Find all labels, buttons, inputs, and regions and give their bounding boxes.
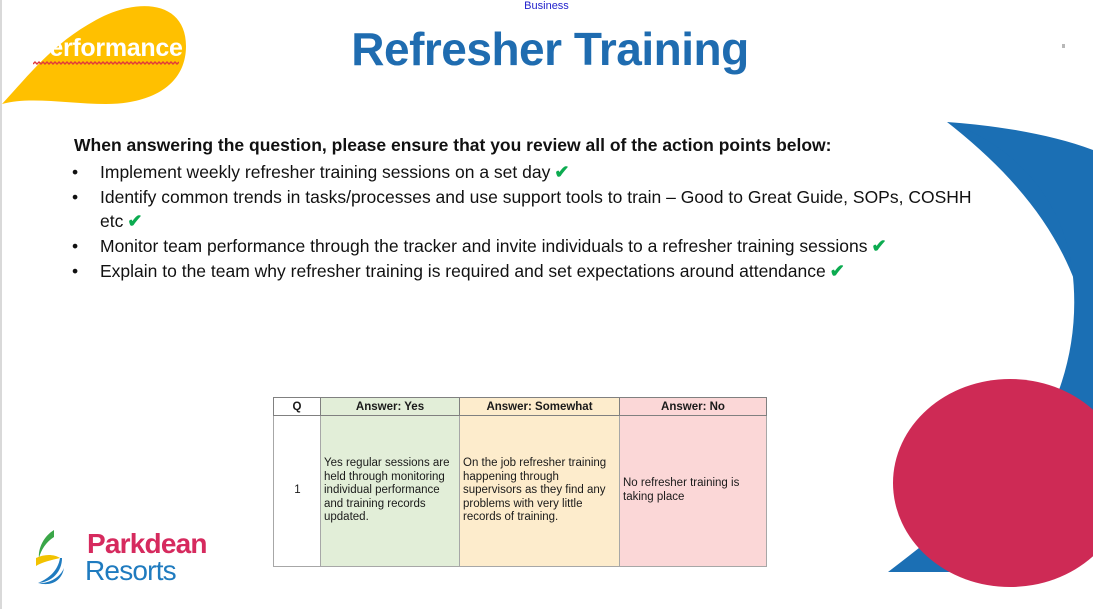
list-item-text: Identify common trends in tasks/processe… bbox=[100, 187, 972, 231]
stray-mark bbox=[1062, 44, 1065, 48]
check-icon: ✔ bbox=[550, 162, 569, 182]
pink-circle-shape bbox=[893, 379, 1093, 587]
check-icon: ✔ bbox=[867, 236, 886, 256]
cell-answer-somewhat: On the job refresher training happening … bbox=[460, 416, 620, 567]
bullet-marker: • bbox=[72, 185, 78, 209]
action-points-list: • Implement weekly refresher training se… bbox=[70, 160, 1000, 284]
list-item-text: Implement weekly refresher training sess… bbox=[100, 162, 550, 182]
column-header-somewhat: Answer: Somewhat bbox=[460, 398, 620, 416]
bullet-marker: • bbox=[72, 234, 78, 258]
logo-leaf-mark bbox=[32, 528, 87, 588]
list-item-text: Explain to the team why refresher traini… bbox=[100, 261, 826, 281]
lead-instruction: When answering the question, please ensu… bbox=[74, 135, 954, 156]
list-item: • Monitor team performance through the t… bbox=[70, 234, 1000, 258]
slide-canvas: Performance Business Refresher Training … bbox=[0, 0, 1093, 609]
slide-left-border bbox=[0, 0, 2, 609]
list-item: • Explain to the team why refresher trai… bbox=[70, 259, 1000, 283]
logo-word-resorts: Resorts bbox=[85, 555, 176, 587]
bullet-marker: • bbox=[72, 160, 78, 184]
parkdean-resorts-logo: Parkdean Resorts bbox=[32, 528, 182, 590]
table-header-row: Q Answer: Yes Answer: Somewhat Answer: N… bbox=[274, 398, 767, 416]
check-icon: ✔ bbox=[826, 261, 845, 281]
page-title: Refresher Training bbox=[190, 22, 910, 76]
table-row: 1 Yes regular sessions are held through … bbox=[274, 416, 767, 567]
column-header-yes: Answer: Yes bbox=[321, 398, 460, 416]
column-header-no: Answer: No bbox=[620, 398, 767, 416]
kicker-text: Business bbox=[0, 0, 1093, 12]
spellcheck-squiggle-underline bbox=[33, 61, 179, 65]
check-icon: ✔ bbox=[123, 211, 142, 231]
blue-tail-shape bbox=[888, 462, 1020, 572]
bullet-marker: • bbox=[72, 259, 78, 283]
column-header-q: Q bbox=[274, 398, 321, 416]
answer-table: Q Answer: Yes Answer: Somewhat Answer: N… bbox=[273, 397, 767, 567]
list-item: • Implement weekly refresher training se… bbox=[70, 160, 1000, 184]
list-item: • Identify common trends in tasks/proces… bbox=[70, 185, 1000, 233]
cell-question-number: 1 bbox=[274, 416, 321, 567]
list-item-text: Monitor team performance through the tra… bbox=[100, 236, 867, 256]
cell-answer-yes: Yes regular sessions are held through mo… bbox=[321, 416, 460, 567]
cell-answer-no: No refresher training is taking place bbox=[620, 416, 767, 567]
performance-badge-label: Performance bbox=[33, 34, 183, 63]
